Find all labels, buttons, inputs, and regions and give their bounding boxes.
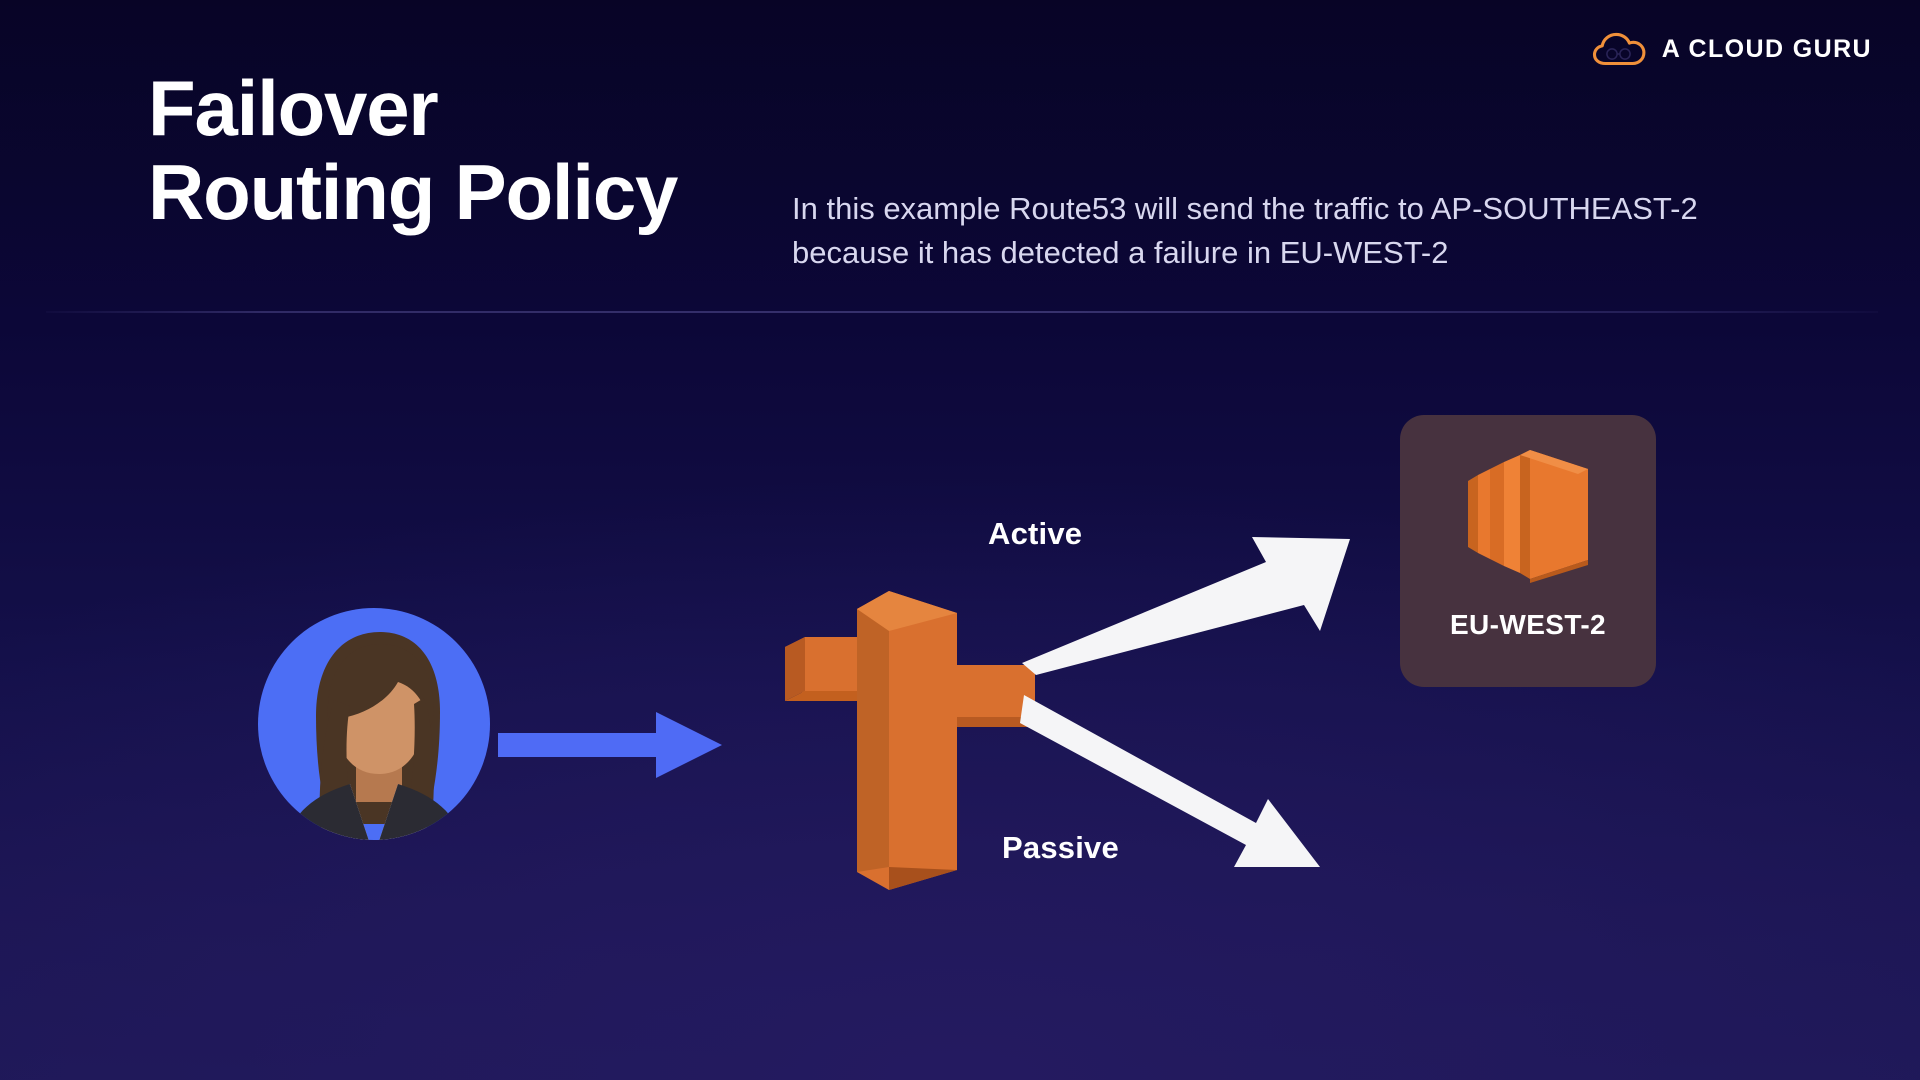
path-label-active: Active xyxy=(988,516,1082,552)
brand-name: A CLOUD GURU xyxy=(1662,35,1872,64)
user-avatar-icon xyxy=(238,588,510,860)
arrow-right-icon xyxy=(498,700,738,790)
slide-title-line-1: Failover xyxy=(148,66,908,150)
slide-subtitle: In this example Route53 will send the tr… xyxy=(792,187,1822,275)
region-card-label: EU-WEST-2 xyxy=(1450,609,1606,641)
brand-logo: A CLOUD GURU xyxy=(1592,30,1872,68)
region-card-eu-west-2[interactable]: EU-WEST-2 xyxy=(1400,415,1656,687)
slide-canvas: Failover Routing Policy In this example … xyxy=(0,0,1920,1080)
route53-signpost-icon xyxy=(785,585,1035,890)
cloud-icon xyxy=(1592,30,1648,68)
arrow-up-right-icon xyxy=(1020,535,1360,675)
path-label-passive: Passive xyxy=(1002,830,1119,866)
aws-ec2-cube-icon xyxy=(1462,447,1594,583)
header-divider-rule xyxy=(46,311,1878,313)
